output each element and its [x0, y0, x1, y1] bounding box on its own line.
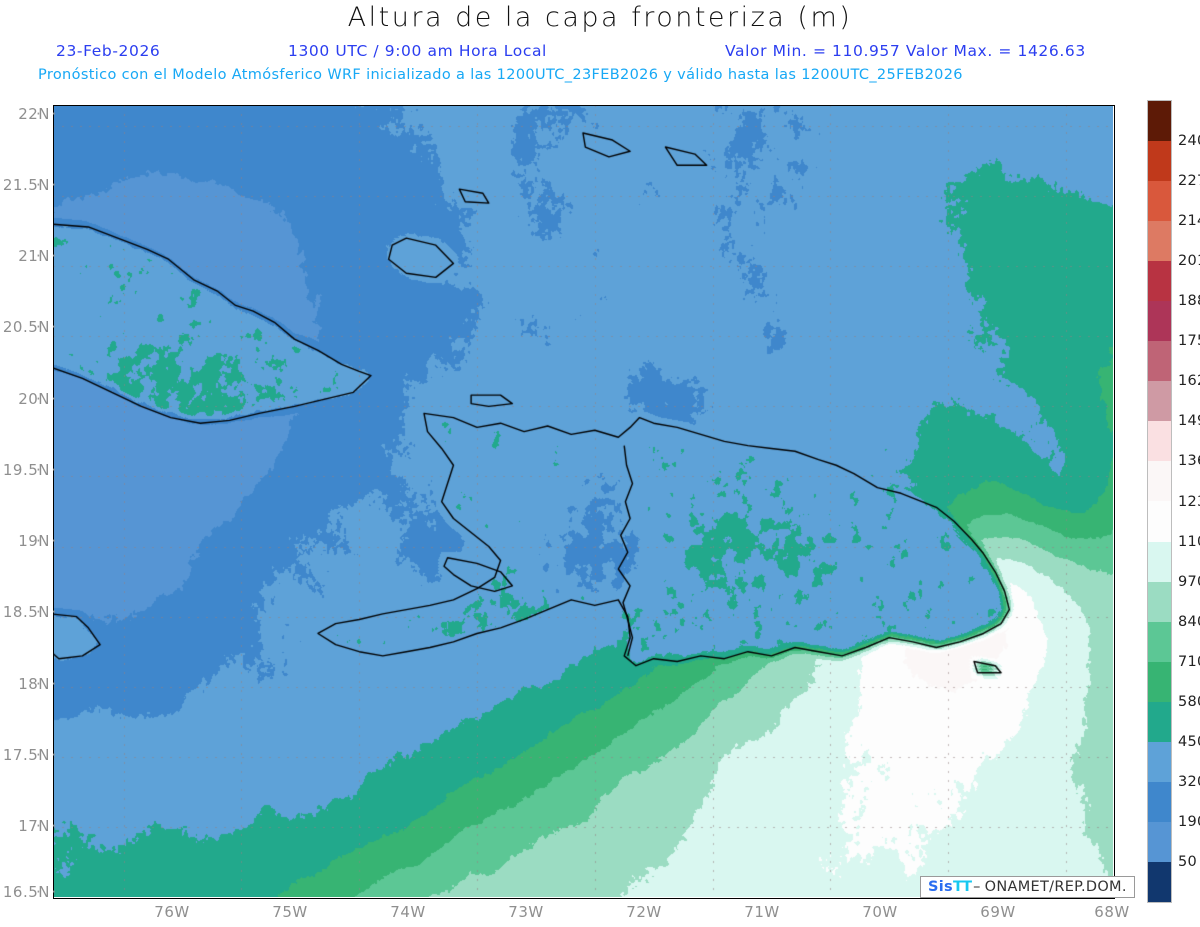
colorbar-band — [1148, 702, 1171, 742]
x-tick-label: 69W — [980, 903, 1015, 921]
colorbar-tick-label: 450 — [1178, 734, 1200, 750]
colorbar-tick-label: 710 — [1178, 654, 1200, 670]
y-tick-marks: · · — [36, 247, 59, 265]
colorbar-band — [1148, 582, 1171, 622]
logo-org-text: ONAMET/REP.DOM. — [985, 879, 1127, 895]
colorbar-band — [1148, 782, 1171, 822]
colorbar-tick-label: 2270 — [1178, 173, 1200, 189]
colorbar-band — [1148, 421, 1171, 461]
value-range-label: Valor Min. = 110.957 Valor Max. = 1426.6… — [725, 42, 1086, 60]
colorbar-tick-label: 1620 — [1178, 373, 1200, 389]
colorbar-band — [1148, 141, 1171, 181]
colorbar-band — [1148, 301, 1171, 341]
y-tick-marks: · · — [36, 883, 59, 901]
x-tick-label: 71W — [744, 903, 779, 921]
x-tick-label: 73W — [508, 903, 543, 921]
colorbar-tick-label: 190 — [1178, 814, 1200, 830]
colorbar-tick-label: 1750 — [1178, 333, 1200, 349]
y-tick-marks: · · — [36, 817, 59, 835]
y-tick-marks: · · — [36, 105, 59, 123]
y-tick-marks: · · — [36, 461, 59, 479]
map-plot-area[interactable] — [53, 105, 1113, 897]
forecast-date: 23-Feb-2026 — [56, 42, 160, 60]
colorbar-tick-label: 320 — [1178, 774, 1200, 790]
colorbar-band — [1148, 221, 1171, 261]
page-title: Altura de la capa fronteriza (m) — [0, 2, 1200, 33]
colorbar-tick-label: 2010 — [1178, 253, 1200, 269]
colorbar-tick-label: 2400 — [1178, 133, 1200, 149]
colorbar[interactable] — [1147, 100, 1172, 903]
colorbar-band — [1148, 181, 1171, 221]
y-tick-marks: · · — [36, 746, 59, 764]
y-tick-marks: · · — [36, 390, 59, 408]
colorbar-tick-label: 1360 — [1178, 453, 1200, 469]
x-tick-label: 75W — [272, 903, 307, 921]
x-tick-label: 72W — [626, 903, 661, 921]
colorbar-band — [1148, 261, 1171, 301]
colorbar-tick-label: 970 — [1178, 574, 1200, 590]
contour-field — [53, 105, 1113, 897]
colorbar-band — [1148, 101, 1171, 141]
colorbar-band — [1148, 862, 1171, 902]
x-tick-label: 74W — [390, 903, 425, 921]
y-tick-marks: · · — [36, 603, 59, 621]
colorbar-band — [1148, 822, 1171, 862]
colorbar-band — [1148, 742, 1171, 782]
logo-pi-icon: TT — [953, 879, 971, 895]
colorbar-band — [1148, 341, 1171, 381]
colorbar-tick-label: 1230 — [1178, 494, 1200, 510]
colorbar-tick-label: 50 — [1178, 854, 1197, 870]
logo-sis-text: Sis — [928, 879, 953, 895]
colorbar-tick-label: 1100 — [1178, 534, 1200, 550]
logo-separator: – — [973, 879, 981, 895]
x-tick-label: 68W — [1094, 903, 1129, 921]
forecast-note: Pronóstico con el Modelo Atmósferico WRF… — [38, 67, 963, 83]
colorbar-tick-label: 580 — [1178, 694, 1200, 710]
colorbar-band — [1148, 542, 1171, 582]
x-tick-label: 76W — [154, 903, 189, 921]
colorbar-tick-label: 1880 — [1178, 293, 1200, 309]
colorbar-tick-label: 840 — [1178, 614, 1200, 630]
colorbar-tick-label: 2140 — [1178, 213, 1200, 229]
colorbar-band — [1148, 461, 1171, 501]
forecast-time: 1300 UTC / 9:00 am Hora Local — [288, 42, 547, 60]
attribution-badge: Sis TT – ONAMET/REP.DOM. — [920, 876, 1135, 898]
y-tick-marks: · · — [36, 675, 59, 693]
colorbar-band — [1148, 622, 1171, 662]
x-tick-label: 70W — [862, 903, 897, 921]
colorbar-band — [1148, 501, 1171, 541]
colorbar-band — [1148, 662, 1171, 702]
y-tick-marks: · · — [36, 318, 59, 336]
y-tick-marks: · · — [36, 532, 59, 550]
colorbar-tick-label: 1490 — [1178, 413, 1200, 429]
colorbar-band — [1148, 381, 1171, 421]
y-tick-marks: · · — [36, 176, 59, 194]
